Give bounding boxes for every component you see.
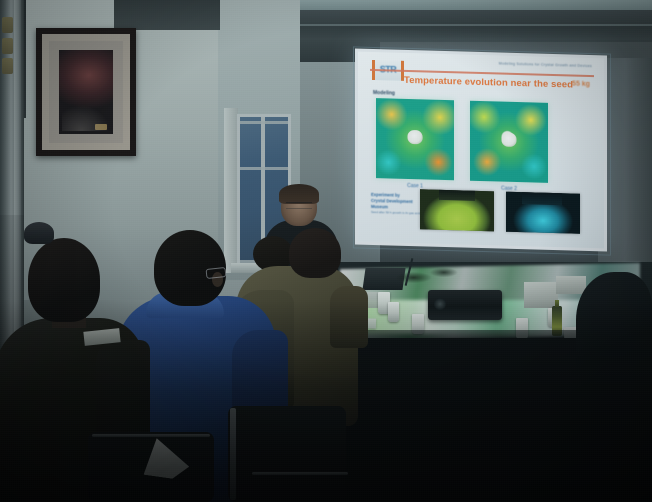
chair-right <box>228 406 346 502</box>
artwork-signature <box>95 124 107 130</box>
window-rail <box>240 121 288 124</box>
door-hinge-icon <box>2 58 13 74</box>
chair-rail <box>230 408 236 500</box>
chair-rail <box>92 434 210 437</box>
glasses-icon <box>206 267 227 279</box>
artwork-mat <box>42 34 130 150</box>
soffit-highlight-line <box>300 24 652 26</box>
experiment-credit-label: Experiment by Crystal Development Museum <box>371 192 415 211</box>
seed-crystal-marker <box>502 133 517 147</box>
person-right-silhouette <box>576 272 652 368</box>
chair-rail <box>252 472 348 475</box>
experiment-photo-green <box>420 189 494 231</box>
seed-crystal-marker <box>408 130 423 144</box>
speaker-hair <box>279 184 319 204</box>
window-reveal <box>224 108 238 273</box>
slide-footnote: Seed after 50 h growth in Ar gas ambient <box>371 210 425 216</box>
door-hinge-icon <box>2 17 13 33</box>
framed-artwork <box>36 28 136 156</box>
slide-surface: STR Modeling Solutions for Crystal Growt… <box>358 52 604 249</box>
simulation-image-case2 <box>470 101 548 183</box>
window-rail <box>240 167 288 170</box>
slide-title: Temperature evolution near the seed <box>404 75 573 91</box>
slide-header-subtitle: Modeling Solutions for Crystal Growth an… <box>499 61 592 68</box>
glasses-icon <box>286 202 312 209</box>
grey-equipment-box <box>556 276 586 294</box>
projector <box>428 290 502 320</box>
paper-cup <box>388 302 399 322</box>
cable-bundle <box>392 262 464 288</box>
artwork-canvas <box>59 50 113 134</box>
grey-equipment-box <box>524 282 558 308</box>
simulation-image-case1 <box>376 98 454 180</box>
slide-badge: 55 kg <box>572 81 590 89</box>
olive-jacket-head <box>289 228 341 278</box>
bottle-neck <box>555 300 559 307</box>
door-hinge-icon <box>2 38 13 54</box>
projector-lens-icon <box>434 298 446 310</box>
dark-attendee-head <box>28 238 100 322</box>
person-partial-far-left <box>24 222 54 244</box>
conference-room-photo: STR Modeling Solutions for Crystal Growt… <box>0 0 652 502</box>
upper-left-shadow <box>114 0 220 30</box>
olive-jacket-arm <box>330 286 368 348</box>
slide-section-label: Modeling <box>373 90 395 97</box>
projection-screen: STR Modeling Solutions for Crystal Growt… <box>355 48 607 251</box>
experiment-photo-cyan <box>506 192 580 234</box>
